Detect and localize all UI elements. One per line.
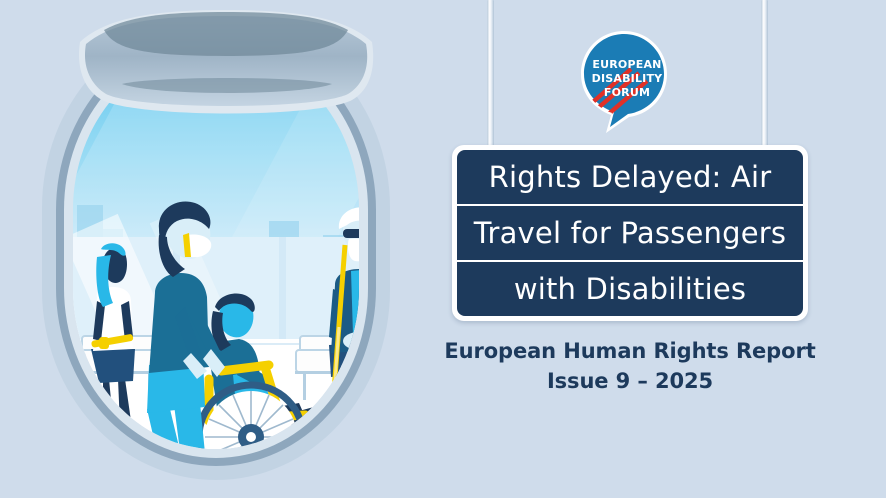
- subtitle-line-1: European Human Rights Report: [430, 336, 830, 366]
- report-cover: EUROPEAN DISABILITY FORUM Rights Delayed…: [0, 0, 886, 498]
- airplane-window-illustration: [18, 8, 438, 490]
- wheelchair-big-wheel: [199, 385, 303, 449]
- sign-text-line-2: Travel for Passengers: [474, 216, 786, 250]
- logo-line-2: DISABILITY: [592, 72, 664, 85]
- hanging-road-sign[interactable]: Rights Delayed: Air Travel for Passenger…: [452, 145, 808, 321]
- sign-post-left: [487, 0, 494, 162]
- logo-line-3: FORUM: [604, 86, 650, 99]
- sign-row-2: Travel for Passengers: [457, 204, 803, 260]
- european-disability-forum-logo[interactable]: EUROPEAN DISABILITY FORUM: [575, 29, 673, 133]
- sign-row-3: with Disabilities: [457, 260, 803, 316]
- logo-line-1: EUROPEAN: [592, 58, 661, 71]
- older-passenger-with-white-cane: [329, 207, 359, 431]
- sign-text-line-3: with Disabilities: [514, 272, 746, 306]
- sign-text-line-1: Rights Delayed: Air: [489, 160, 772, 194]
- report-subtitle: European Human Rights Report Issue 9 – 2…: [430, 336, 830, 396]
- sign-inner-panel: Rights Delayed: Air Travel for Passenger…: [457, 150, 803, 316]
- sign-row-1: Rights Delayed: Air: [457, 150, 803, 204]
- sign-post-right: [761, 0, 768, 162]
- subtitle-line-2: Issue 9 – 2025: [430, 366, 830, 396]
- window-shade[interactable]: [18, 8, 438, 158]
- seated-woman-passenger: [91, 243, 135, 427]
